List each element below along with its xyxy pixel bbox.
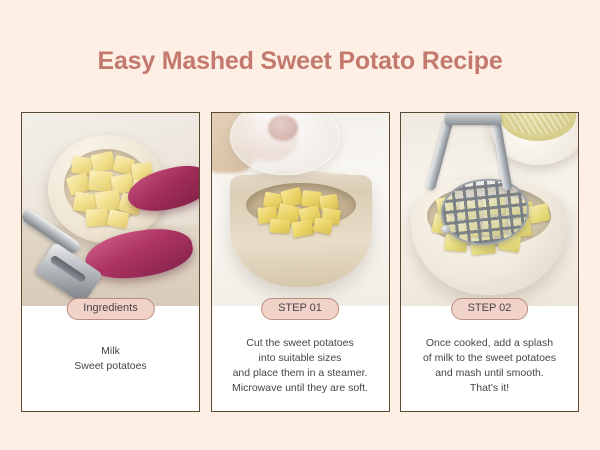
masher-handle-icon bbox=[445, 113, 501, 125]
lid-knob-icon bbox=[268, 115, 298, 141]
step-01-badge: STEP 01 bbox=[261, 298, 339, 320]
step-02-photo bbox=[401, 113, 578, 306]
step-02-badge: STEP 02 bbox=[451, 298, 529, 320]
sweet-potato-cube-icon bbox=[301, 190, 322, 208]
page-title: Easy Mashed Sweet Potato Recipe bbox=[0, 47, 600, 76]
step-01-caption-zone: Cut the sweet potatoes into suitable siz… bbox=[212, 306, 389, 411]
sweet-potato-cube-icon bbox=[269, 218, 290, 233]
ingredients-photo bbox=[22, 113, 199, 306]
ingredients-caption-zone: Milk Sweet potatoes bbox=[22, 306, 199, 411]
sweet-potato-cube-icon bbox=[85, 208, 108, 226]
sweet-potato-cube-icon bbox=[88, 170, 113, 192]
ingredients-list: Milk Sweet potatoes bbox=[26, 344, 195, 374]
step-01-instructions: Cut the sweet potatoes into suitable siz… bbox=[216, 336, 385, 396]
recipe-card-step-02: STEP 02 Once cooked, add a splash of mil… bbox=[400, 112, 579, 412]
step-01-photo bbox=[212, 113, 389, 306]
recipe-card-step-01: STEP 01 Cut the sweet potatoes into suit… bbox=[211, 112, 390, 412]
ingredients-badge: Ingredients bbox=[66, 298, 154, 320]
step-02-instructions: Once cooked, add a splash of milk to the… bbox=[405, 336, 574, 396]
step-02-caption-zone: Once cooked, add a splash of milk to the… bbox=[401, 306, 578, 411]
recipe-card-ingredients: Ingredients Milk Sweet potatoes bbox=[21, 112, 200, 412]
recipe-card-row: Ingredients Milk Sweet potatoes bbox=[21, 112, 579, 412]
masher-rivet-icon bbox=[441, 225, 450, 234]
